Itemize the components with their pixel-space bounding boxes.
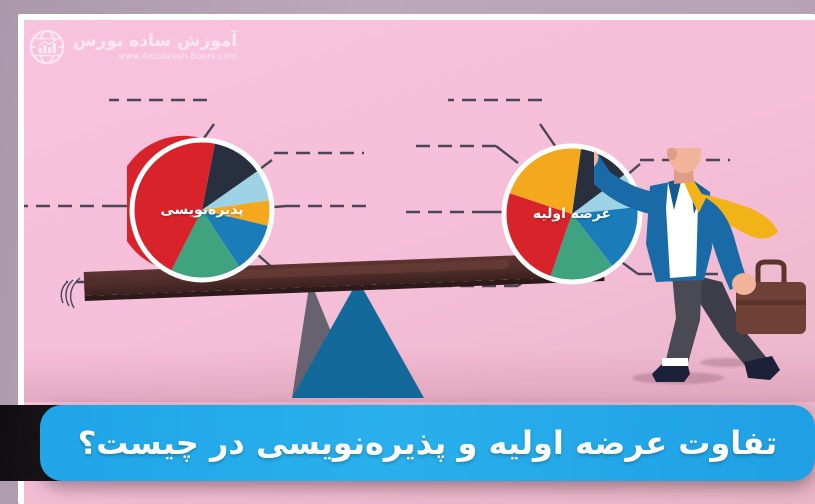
person-front-shoe: [652, 364, 690, 382]
person-front-leg: [664, 274, 702, 370]
banner-title-text: تفاوت عرضه اولیه و پذیره‌نویسی در چیست؟: [78, 424, 778, 462]
pie-left-svg: [127, 135, 277, 285]
briefcase-band: [736, 300, 806, 305]
seesaw-fulcrum: [292, 280, 424, 398]
briefcase-handle: [758, 262, 784, 282]
businessman-figure: [594, 148, 814, 388]
motion-lines-icon: [60, 276, 86, 310]
person-ear: [667, 148, 677, 160]
title-banner[interactable]: تفاوت عرضه اولیه و پذیره‌نویسی در چیست؟: [40, 405, 815, 481]
image-root: آموزش ساده بورس www.Amoozesh-Boors.com: [0, 0, 815, 504]
person-sock: [662, 358, 688, 366]
person-left-arm: [594, 154, 654, 214]
person-right-hand: [732, 273, 756, 295]
